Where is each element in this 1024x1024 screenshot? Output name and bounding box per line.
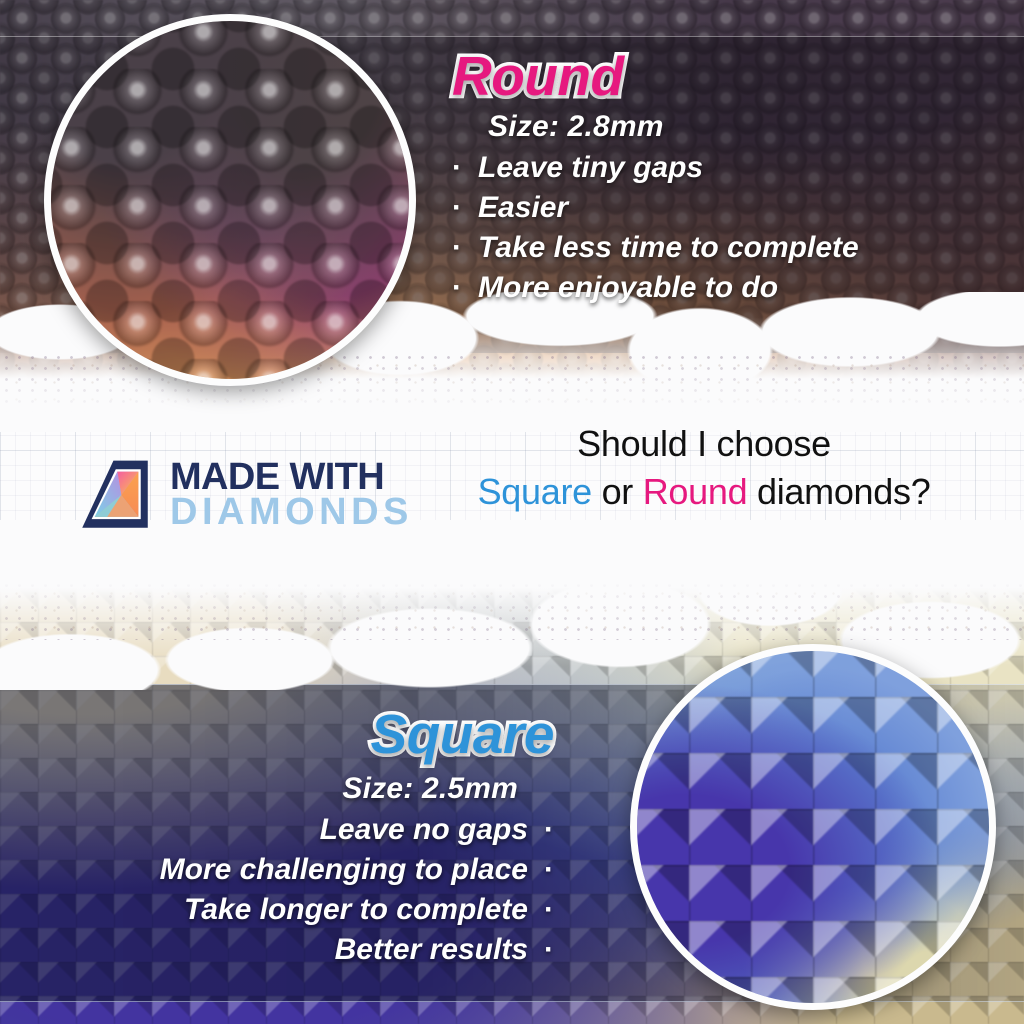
list-item: Better results· (0, 930, 554, 970)
bullet-icon: · (544, 850, 554, 890)
infographic-canvas: Round Size: 2.8mm ·Leave tiny gaps ·Easi… (0, 0, 1024, 1024)
headline-word-or: or (592, 471, 643, 512)
round-magnified-texture (44, 14, 416, 386)
bullet-icon: · (452, 268, 462, 308)
list-item: ·Easier (452, 188, 1012, 228)
headline-tail: diamonds? (747, 471, 930, 512)
square-bullet-text: Better results (335, 933, 528, 966)
square-bullet-text: More challenging to place (160, 853, 528, 886)
square-bullet-text: Leave no gaps (320, 813, 528, 846)
bullet-icon: · (544, 810, 554, 850)
list-item: ·More enjoyable to do (452, 268, 1012, 308)
list-item: ·Leave tiny gaps (452, 148, 1012, 188)
round-bullet-list: ·Leave tiny gaps ·Easier ·Take less time… (452, 148, 1012, 308)
brand-logo: MADE WITH DIAMONDS (76, 456, 413, 534)
headline-line-2: Square or Round diamonds? (404, 470, 1004, 514)
round-magnifier-circle (44, 14, 416, 386)
diamond-logo-icon (76, 456, 154, 534)
round-bullet-text: Leave tiny gaps (478, 151, 703, 184)
square-magnified-texture (630, 644, 996, 1010)
bullet-icon: · (544, 930, 554, 970)
brand-line-made-with: MADE WITH (170, 460, 413, 495)
square-bullet-text: Take longer to complete (184, 893, 528, 926)
square-bullet-list: Leave no gaps· More challenging to place… (0, 810, 554, 970)
headline-line-1: Should I choose (577, 423, 831, 464)
headline-word-round: Round (643, 471, 748, 512)
square-size-line: Size: 2.5mm (0, 772, 554, 806)
round-size-line: Size: 2.8mm (452, 110, 1012, 144)
round-info-block: Round Size: 2.8mm ·Leave tiny gaps ·Easi… (452, 48, 1012, 308)
round-bullet-text: Easier (478, 191, 568, 224)
bullet-icon: · (452, 188, 462, 228)
list-item: Leave no gaps· (0, 810, 554, 850)
bullet-icon: · (452, 228, 462, 268)
bullet-icon: · (452, 148, 462, 188)
list-item: Take longer to complete· (0, 890, 554, 930)
round-bullet-text: More enjoyable to do (478, 271, 778, 304)
square-info-block: Square Size: 2.5mm Leave no gaps· More c… (0, 706, 554, 970)
bullet-icon: · (544, 890, 554, 930)
list-item: ·Take less time to complete (452, 228, 1012, 268)
headline-word-square: Square (478, 471, 592, 512)
square-magnifier-circle (630, 644, 996, 1010)
centre-band: MADE WITH DIAMONDS Should I choose Squar… (0, 404, 1024, 572)
list-item: More challenging to place· (0, 850, 554, 890)
brand-logo-text: MADE WITH DIAMONDS (170, 460, 413, 530)
brand-line-diamonds: DIAMONDS (170, 495, 413, 530)
round-bullet-text: Take less time to complete (478, 231, 859, 264)
square-heading: Square (0, 706, 554, 762)
round-heading: Round (452, 48, 1012, 104)
headline-question: Should I choose Square or Round diamonds… (404, 422, 1004, 514)
